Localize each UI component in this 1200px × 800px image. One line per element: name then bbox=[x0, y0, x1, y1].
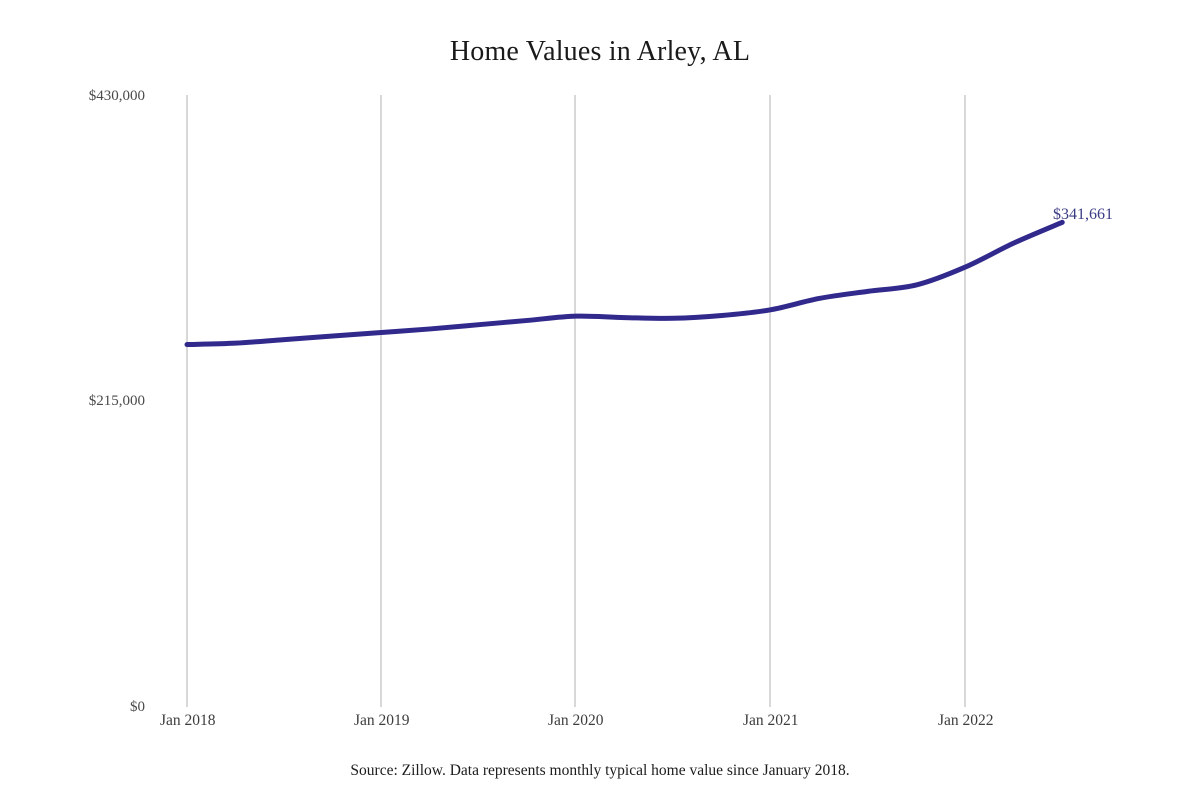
x-axis-tick-label-jan-2020: Jan 2020 bbox=[548, 712, 604, 730]
chart-figure: Home Values in Arley, AL $430,000 $215,0… bbox=[0, 0, 1200, 800]
x-axis-tick-label-jan-2021: Jan 2021 bbox=[743, 712, 799, 730]
plot-area bbox=[0, 0, 1200, 800]
y-axis-tick-label-mid: $215,000 bbox=[10, 393, 145, 410]
x-axis-tick-label-jan-2018: Jan 2018 bbox=[160, 712, 216, 730]
line-chart-svg bbox=[0, 0, 1200, 800]
x-axis-tick-label-jan-2022: Jan 2022 bbox=[938, 712, 994, 730]
y-axis-tick-label-top: $430,000 bbox=[10, 88, 145, 105]
gridlines bbox=[187, 95, 965, 707]
source-note: Source: Zillow. Data represents monthly … bbox=[0, 762, 1200, 780]
y-axis-tick-label-bottom: $0 bbox=[10, 699, 145, 716]
end-value-annotation: $341,661 bbox=[1053, 206, 1113, 224]
x-axis-tick-label-jan-2019: Jan 2019 bbox=[354, 712, 410, 730]
data-line-typical-home-value bbox=[187, 222, 1062, 344]
